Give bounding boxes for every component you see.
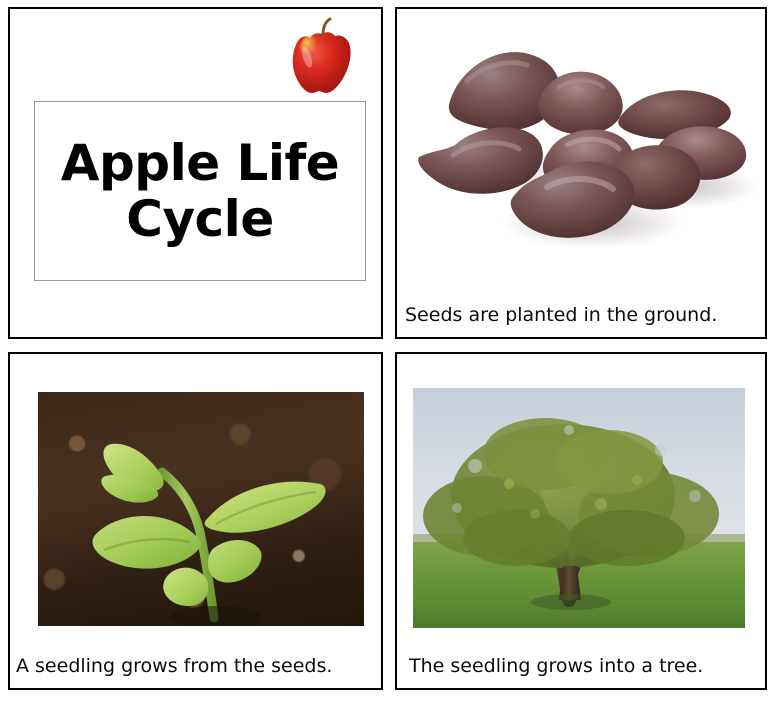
seedling-photo [38, 392, 364, 626]
card-caption: Seeds are planted in the ground. [405, 304, 759, 327]
apple-seeds-photo [397, 9, 765, 285]
card-caption: A seedling grows from the seeds. [16, 655, 375, 678]
apple-life-cycle-sheet: Apple Life Cycle [0, 0, 777, 702]
title-box: Apple Life Cycle [34, 101, 366, 281]
card-seedling[interactable]: A seedling grows from the seeds. [8, 352, 383, 690]
apple-icon [290, 17, 354, 95]
card-seeds[interactable]: Seeds are planted in the ground. [395, 7, 767, 339]
card-caption: The seedling grows into a tree. [409, 655, 759, 678]
apple-tree-photo [413, 388, 745, 628]
card-title[interactable]: Apple Life Cycle [8, 7, 383, 339]
page-title: Apple Life Cycle [61, 135, 339, 247]
card-tree[interactable]: The seedling grows into a tree. [395, 352, 767, 690]
